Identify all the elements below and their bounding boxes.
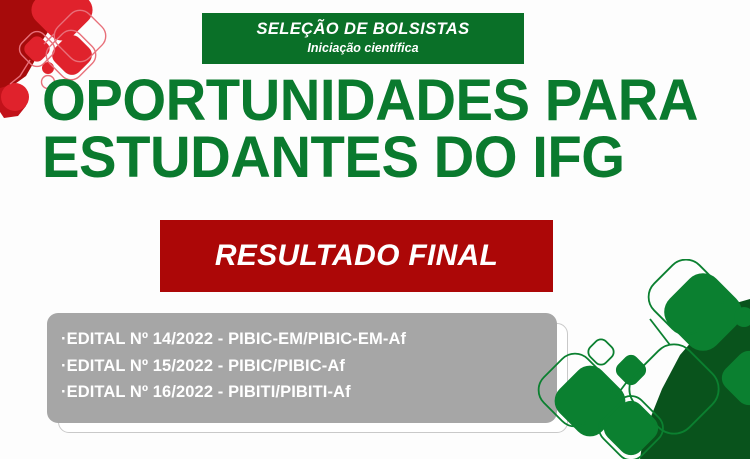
- list-item: ·EDITAL Nº 14/2022 - PIBIC-EM/PIBIC-EM-A…: [61, 326, 557, 353]
- selection-banner: SELEÇÃO DE BOLSISTAS Iniciação científic…: [202, 13, 524, 64]
- selection-banner-title: SELEÇÃO DE BOLSISTAS: [256, 20, 469, 38]
- list-item: ·EDITAL Nº 15/2022 - PIBIC/PIBIC-Af: [61, 353, 557, 380]
- result-banner-label: RESULTADO FINAL: [215, 239, 498, 273]
- poster-canvas: SELEÇÃO DE BOLSISTAS Iniciação científic…: [0, 0, 750, 459]
- page-title: OPORTUNIDADES PARA ESTUDANTES DO IFG: [42, 72, 708, 187]
- editais-list: ·EDITAL Nº 14/2022 - PIBIC-EM/PIBIC-EM-A…: [47, 313, 557, 423]
- list-item: ·EDITAL Nº 16/2022 - PIBITI/PIBITI-Af: [61, 379, 557, 406]
- page-title-line-2: ESTUDANTES DO IFG: [42, 129, 688, 186]
- selection-banner-subtitle: Iniciação científica: [307, 40, 418, 56]
- page-title-line-1: OPORTUNIDADES PARA: [42, 72, 688, 129]
- result-banner: RESULTADO FINAL: [160, 220, 553, 292]
